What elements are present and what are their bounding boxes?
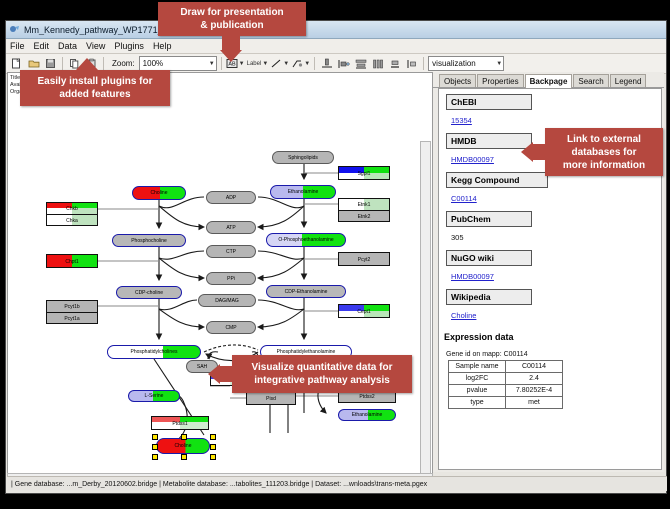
line-tool[interactable]: ▼ bbox=[270, 58, 289, 69]
callout-visualize: Visualize quantitative data for integrat… bbox=[232, 355, 412, 393]
gene-id-line: Gene id on mapp: C00114 bbox=[446, 351, 661, 358]
table-row: Sample name C00114 bbox=[449, 361, 563, 373]
db-hmdb-link[interactable]: HMDB00097 bbox=[451, 155, 494, 164]
db-pubchem-value: 305 bbox=[451, 233, 464, 242]
title-bar: Mm_Kennedy_pathway_WP1771_45176.gpml bbox=[6, 21, 666, 39]
toolbar-separator bbox=[62, 57, 63, 70]
menu-help[interactable]: Help bbox=[153, 41, 172, 51]
open-folder-icon[interactable] bbox=[26, 56, 41, 71]
gene-cept1[interactable]: Cept1 bbox=[338, 304, 390, 318]
align-columns-icon[interactable] bbox=[370, 56, 385, 71]
callout-draw-text: Draw for presentation & publication bbox=[174, 3, 289, 35]
db-nugo: NuGO wiki HMDB00097 bbox=[446, 250, 661, 284]
new-file-icon[interactable] bbox=[9, 56, 24, 71]
callout-visualize-line2: integrative pathway analysis bbox=[252, 374, 393, 387]
visualization-combobox[interactable]: visualization ▼ bbox=[428, 56, 504, 71]
callout-draw-line2: & publication bbox=[180, 19, 283, 32]
db-chebi-link[interactable]: 15354 bbox=[451, 116, 472, 125]
cell-value: C00114 bbox=[506, 361, 563, 373]
save-icon[interactable] bbox=[43, 56, 58, 71]
node-cdp-choline[interactable]: CDP-choline bbox=[116, 286, 182, 299]
toolbar-separator bbox=[314, 57, 315, 70]
pathway-canvas[interactable]: Title: Availa Organi bbox=[7, 72, 433, 474]
menu-view[interactable]: View bbox=[86, 41, 105, 51]
node-ethanolamine-1[interactable]: Ethanolamine bbox=[270, 185, 336, 199]
db-wikipedia-link[interactable]: Choline bbox=[451, 311, 476, 320]
node-label: Phosphocholine bbox=[131, 238, 167, 244]
callout-plugins-line1: Easily install plugins for bbox=[37, 75, 152, 88]
chevron-down-icon[interactable]: ▼ bbox=[283, 61, 289, 67]
align-left-icon[interactable] bbox=[336, 56, 351, 71]
node-label: Choline bbox=[151, 190, 168, 196]
callout-visualize-arrow bbox=[208, 364, 220, 384]
node-label: CDP-choline bbox=[135, 290, 163, 296]
callout-link-text: Link to external databases for more info… bbox=[557, 130, 651, 175]
selection-handle[interactable] bbox=[210, 434, 216, 440]
db-kegg-header: Kegg Compound bbox=[446, 172, 548, 188]
gene-chkb[interactable]: Chkb bbox=[46, 202, 98, 214]
menu-file[interactable]: File bbox=[10, 41, 25, 51]
node-label: ATP bbox=[226, 225, 235, 231]
expression-table: Sample name C00114 log2FC 2.4 pvalue 7.8… bbox=[448, 360, 563, 409]
node-label: O-Phosphoethanolamine bbox=[278, 237, 333, 243]
node-ethanolamine-2[interactable]: Ethanolamine bbox=[338, 409, 396, 421]
cell-key: Sample name bbox=[449, 361, 506, 373]
callout-draw: Draw for presentation & publication bbox=[158, 2, 306, 36]
screenshot-root: Mm_Kennedy_pathway_WP1771_45176.gpml Fil… bbox=[0, 0, 670, 509]
node-label: Choline bbox=[175, 443, 192, 449]
chevron-down-icon[interactable]: ▼ bbox=[304, 61, 310, 67]
cell-value: 2.4 bbox=[506, 373, 563, 385]
callout-plugins-arrow bbox=[76, 58, 98, 70]
visualization-value: visualization bbox=[432, 59, 476, 68]
toolbar-separator bbox=[103, 57, 104, 70]
callout-plugins-line2: added features bbox=[37, 88, 152, 101]
gene-ptdss1[interactable]: Ptdss1 bbox=[151, 416, 209, 430]
zoom-combobox[interactable]: 100% ▼ bbox=[139, 56, 217, 71]
node-adp[interactable]: ADP bbox=[206, 191, 256, 204]
callout-link-line3: more information bbox=[563, 159, 645, 172]
node-cdp-ethanolamine[interactable]: CDP-Ethanolamine bbox=[266, 285, 346, 298]
db-pubchem-header: PubChem bbox=[446, 211, 532, 227]
node-label: Ethanolamine bbox=[288, 189, 319, 195]
node-label: CMP bbox=[225, 325, 236, 331]
gene-sgpl1[interactable]: Sgpl1 bbox=[338, 166, 390, 180]
side-panel-tabs: Objects Properties Backpage Search Legen… bbox=[433, 72, 664, 88]
gene-pcyt1a[interactable]: Pcyt1a bbox=[46, 312, 98, 324]
gene-etnk1[interactable]: Etnk1 bbox=[338, 198, 390, 210]
align-rows-icon[interactable] bbox=[353, 56, 368, 71]
node-label: Ethanolamine bbox=[352, 412, 383, 418]
align-edge-icon[interactable] bbox=[404, 56, 419, 71]
node-phosphocholine[interactable]: Phosphocholine bbox=[112, 234, 186, 247]
cell-key: pvalue bbox=[449, 385, 506, 397]
table-row: pvalue 7.80252E-4 bbox=[449, 385, 563, 397]
selection-handle[interactable] bbox=[210, 444, 216, 450]
selection-handle[interactable] bbox=[152, 444, 158, 450]
db-kegg: Kegg Compound C00114 bbox=[446, 172, 661, 206]
node-ppi[interactable]: PPi bbox=[206, 272, 256, 285]
node-dag-mag[interactable]: DAG/MAG bbox=[198, 294, 256, 307]
db-hmdb-header: HMDB bbox=[446, 133, 532, 149]
node-label: PPi bbox=[227, 276, 235, 282]
callout-link-line1: Link to external bbox=[563, 133, 645, 146]
node-phosphatidylcholines[interactable]: Phosphatidylcholines bbox=[107, 345, 201, 359]
callout-plugins-text: Easily install plugins for added feature… bbox=[31, 72, 158, 104]
selection-handle[interactable] bbox=[210, 454, 216, 460]
cell-key: type bbox=[449, 397, 506, 409]
menu-bar: File Edit Data View Plugins Help bbox=[6, 39, 666, 54]
status-text: | Gene database: ...m_Derby_20120602.bri… bbox=[11, 481, 427, 488]
node-label: ADP bbox=[226, 195, 236, 201]
canvas-vertical-scrollbar[interactable] bbox=[420, 141, 431, 474]
callout-draw-line1: Draw for presentation bbox=[180, 6, 283, 19]
node-cmp[interactable]: CMP bbox=[206, 321, 256, 334]
db-chebi-header: ChEBI bbox=[446, 94, 532, 110]
callout-visualize-text: Visualize quantitative data for integrat… bbox=[246, 358, 399, 390]
node-ctp[interactable]: CTP bbox=[206, 245, 256, 258]
node-label: CDP-Ethanolamine bbox=[285, 289, 328, 295]
menu-data[interactable]: Data bbox=[58, 41, 77, 51]
tab-properties[interactable]: Properties bbox=[477, 74, 523, 87]
cell-key: log2FC bbox=[449, 373, 506, 385]
node-label: SAH bbox=[197, 364, 207, 370]
align-top-icon[interactable] bbox=[319, 56, 334, 71]
node-atp[interactable]: ATP bbox=[206, 221, 256, 234]
node-o-phosphoethanolamine[interactable]: O-Phosphoethanolamine bbox=[266, 233, 346, 247]
gene-pcyt2[interactable]: Pcyt2 bbox=[338, 252, 390, 266]
node-sphingolipids[interactable]: Sphingolipids bbox=[272, 151, 334, 164]
gene-pcyt1b[interactable]: Pcyt1b bbox=[46, 300, 98, 312]
svg-text:AB: AB bbox=[228, 62, 236, 68]
tab-search[interactable]: Search bbox=[573, 74, 608, 87]
menu-plugins[interactable]: Plugins bbox=[114, 41, 144, 51]
status-bar: | Gene database: ...m_Derby_20120602.bri… bbox=[7, 476, 667, 491]
gene-pisd[interactable]: Pisd bbox=[246, 391, 296, 405]
menu-edit[interactable]: Edit bbox=[34, 41, 50, 51]
db-wikipedia: Wikipedia Choline bbox=[446, 289, 661, 323]
gene-chka[interactable]: Chka bbox=[46, 214, 98, 226]
node-label: Phosphatidylcholines bbox=[131, 349, 178, 355]
app-icon bbox=[9, 24, 20, 35]
table-row: type met bbox=[449, 397, 563, 409]
callout-visualize-stem bbox=[220, 366, 234, 382]
db-chebi: ChEBI 15354 bbox=[446, 94, 661, 128]
callout-draw-arrow bbox=[220, 50, 242, 62]
zoom-label: Zoom: bbox=[112, 59, 135, 68]
gene-chpt1[interactable]: Chpt1 bbox=[46, 254, 98, 268]
cell-value: 7.80252E-4 bbox=[506, 385, 563, 397]
db-nugo-header: NuGO wiki bbox=[446, 250, 532, 266]
node-label: Sphingolipids bbox=[288, 155, 318, 161]
cell-value: met bbox=[506, 397, 563, 409]
selection-handle[interactable] bbox=[181, 454, 187, 460]
tab-objects[interactable]: Objects bbox=[439, 74, 476, 87]
chevron-down-icon[interactable]: ▼ bbox=[209, 61, 215, 67]
toolbar-separator bbox=[423, 57, 424, 70]
selection-handle[interactable] bbox=[152, 434, 158, 440]
node-label: DAG/MAG bbox=[215, 298, 239, 304]
selection-handle[interactable] bbox=[152, 454, 158, 460]
node-choline-1[interactable]: Choline bbox=[132, 186, 186, 200]
gene-etnk2[interactable]: Etnk2 bbox=[338, 210, 390, 222]
callout-link-stem bbox=[533, 144, 547, 160]
selection-handle[interactable] bbox=[181, 434, 187, 440]
db-kegg-link[interactable]: C00114 bbox=[451, 194, 477, 203]
chevron-down-icon[interactable]: ▼ bbox=[496, 61, 502, 67]
label-tool[interactable]: Label ▼ bbox=[247, 61, 269, 67]
node-choline-selected[interactable]: Choline bbox=[156, 438, 210, 454]
callout-link-arrow bbox=[521, 142, 533, 162]
node-label: L-Serine bbox=[145, 393, 164, 399]
db-nugo-link[interactable]: HMDB00097 bbox=[451, 272, 494, 281]
chevron-down-icon[interactable]: ▼ bbox=[262, 61, 268, 67]
tab-legend[interactable]: Legend bbox=[610, 74, 647, 87]
arrow-tool[interactable]: ▼ bbox=[291, 58, 310, 69]
expression-data-title: Expression data bbox=[444, 332, 661, 342]
tab-backpage[interactable]: Backpage bbox=[525, 74, 573, 88]
zoom-value: 100% bbox=[143, 59, 163, 68]
node-l-serine-1[interactable]: L-Serine bbox=[128, 390, 180, 402]
callout-link-line2: databases for bbox=[563, 146, 645, 159]
node-choline-2-shape[interactable]: Choline bbox=[156, 438, 210, 454]
db-pubchem: PubChem 305 bbox=[446, 211, 661, 245]
align-stack-icon[interactable] bbox=[387, 56, 402, 71]
node-label: CTP bbox=[226, 249, 236, 255]
callout-visualize-line1: Visualize quantitative data for bbox=[252, 361, 393, 374]
db-wikipedia-header: Wikipedia bbox=[446, 289, 532, 305]
label-tool-text: Label bbox=[247, 61, 262, 67]
callout-link: Link to external databases for more info… bbox=[545, 128, 663, 176]
table-row: log2FC 2.4 bbox=[449, 373, 563, 385]
